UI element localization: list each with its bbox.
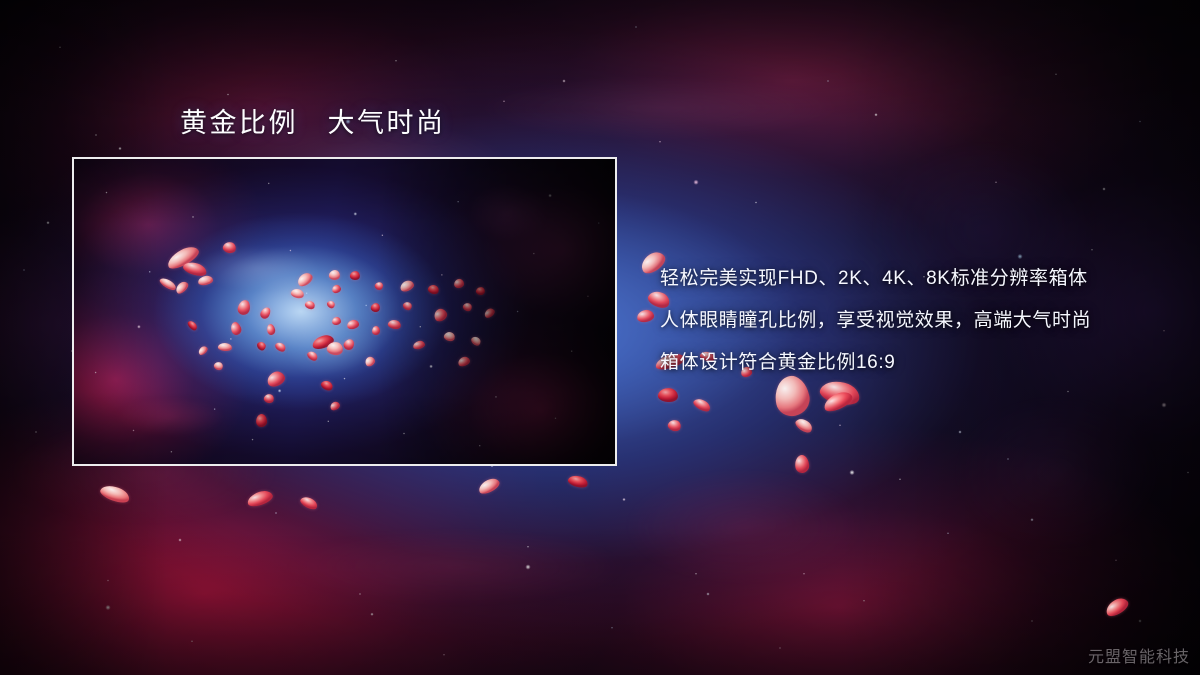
rose-petal [793, 416, 814, 435]
rose-petal [667, 418, 683, 433]
rose-petal [246, 488, 275, 508]
slide-canvas: 黄金比例 大气时尚 轻松完美实现FHD、2K、4K、8K标准分辨率箱体 人体眼睛… [0, 0, 1200, 675]
rose-petal [821, 389, 855, 415]
rose-petal [692, 396, 713, 414]
page-title: 黄金比例 大气时尚 [180, 101, 446, 140]
panel-vignette [72, 157, 617, 466]
golden-ratio-preview-frame[interactable] [72, 157, 617, 466]
company-watermark: 元盟智能科技 [1088, 643, 1190, 667]
rose-petal [99, 482, 132, 505]
rose-petal [1103, 595, 1131, 619]
description-line-2: 人体眼睛瞳孔比例，享受视觉效果，高端大气时尚 [660, 300, 1180, 342]
rose-petal [299, 494, 320, 511]
feature-description: 轻松完美实现FHD、2K、4K、8K标准分辨率箱体 人体眼睛瞳孔比例，享受视觉效… [660, 258, 1180, 384]
description-line-1: 轻松完美实现FHD、2K、4K、8K标准分辨率箱体 [660, 258, 1180, 300]
rose-petal [636, 309, 655, 323]
rose-petal [657, 387, 678, 403]
rose-petal [794, 454, 810, 474]
rose-petal [567, 473, 589, 489]
description-line-3: 箱体设计符合黄金比例16:9 [660, 342, 1180, 384]
rose-petal [476, 476, 501, 496]
